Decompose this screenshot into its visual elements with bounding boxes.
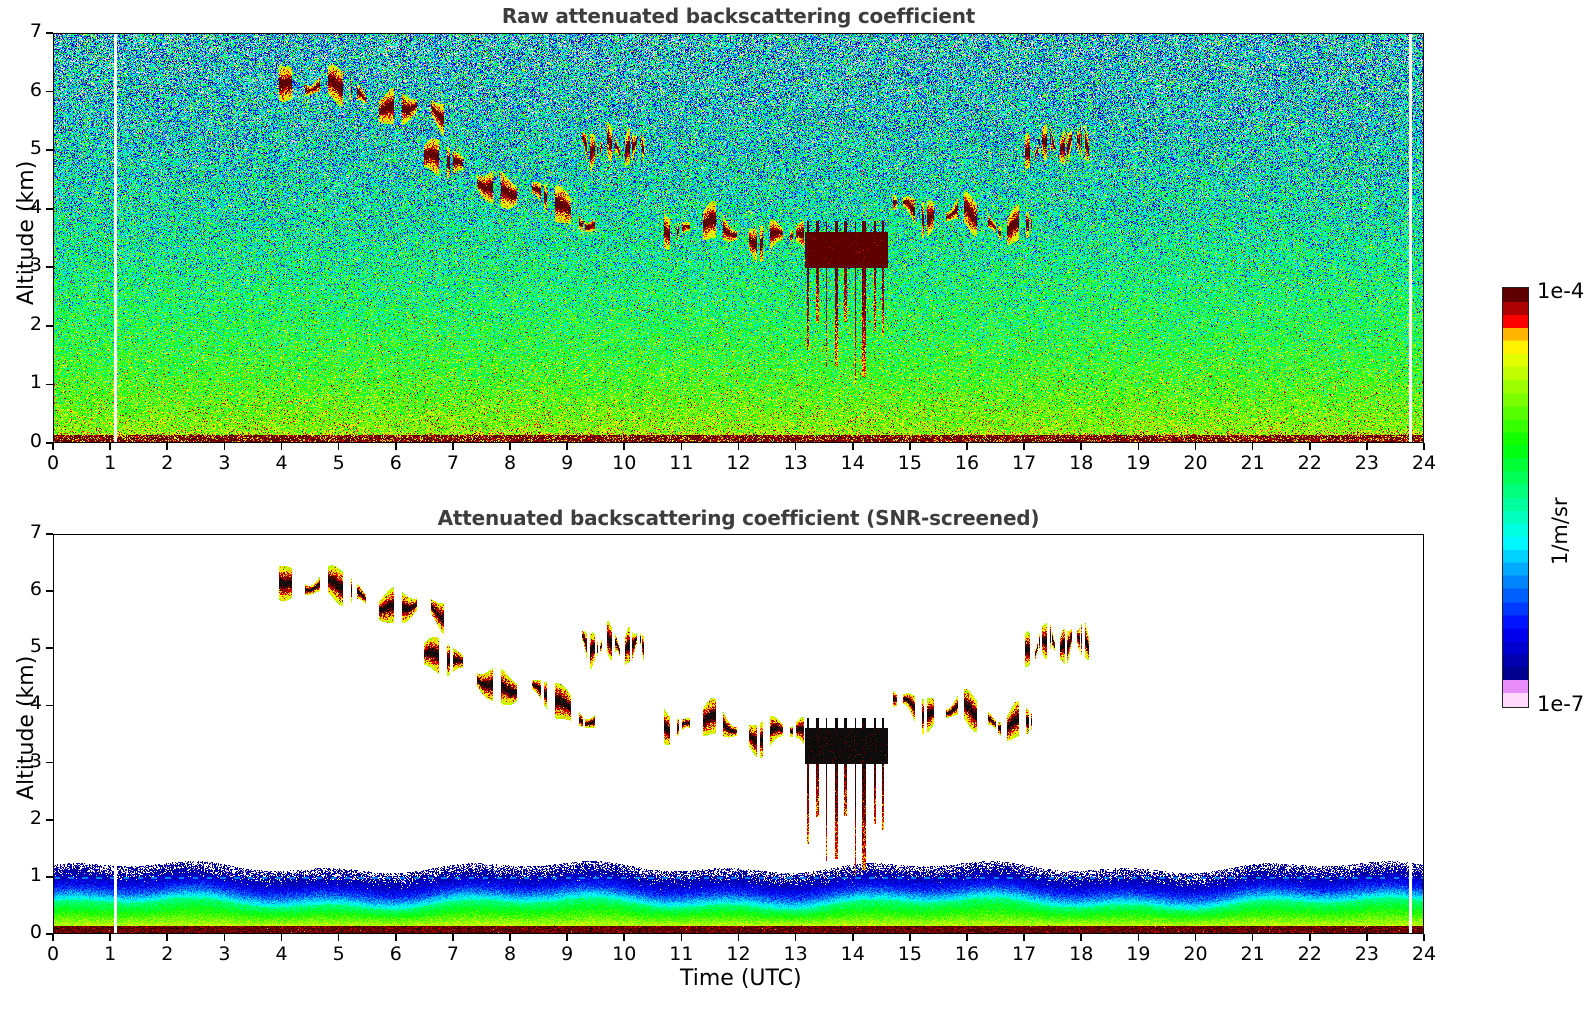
x-tick <box>109 934 111 941</box>
y-tick-label: 5 <box>9 137 42 159</box>
x-tick <box>623 443 625 450</box>
x-tick-label: 15 <box>888 452 932 474</box>
x-tick <box>852 934 854 941</box>
x-tick-label: 0 <box>31 452 75 474</box>
time-axis-label: Time (UTC) <box>680 966 802 991</box>
y-tick <box>46 442 53 444</box>
screened-backscatter-plot[interactable] <box>53 534 1424 934</box>
colorbar-max-label: 1e-4 <box>1537 279 1584 303</box>
x-tick-label: 0 <box>31 943 75 965</box>
x-tick-label: 22 <box>1288 452 1332 474</box>
x-tick <box>566 934 568 941</box>
y-tick-label: 2 <box>9 313 42 335</box>
x-tick-label: 14 <box>831 943 875 965</box>
x-tick <box>1023 934 1025 941</box>
x-tick <box>966 934 968 941</box>
x-tick <box>281 443 283 450</box>
x-tick <box>166 443 168 450</box>
x-tick-label: 24 <box>1402 943 1446 965</box>
y-tick-label: 0 <box>9 921 42 943</box>
y-tick <box>46 384 53 386</box>
y-tick-label: 2 <box>9 807 42 829</box>
y-tick-label: 7 <box>9 20 42 42</box>
x-tick-label: 20 <box>1174 452 1218 474</box>
x-tick-label: 8 <box>488 943 532 965</box>
x-tick <box>1309 934 1311 941</box>
y-tick <box>46 933 53 935</box>
x-tick <box>681 443 683 450</box>
x-tick-label: 11 <box>659 943 703 965</box>
x-tick <box>1195 443 1197 450</box>
x-tick <box>338 443 340 450</box>
y-tick <box>46 876 53 878</box>
x-tick-label: 13 <box>774 943 818 965</box>
y-tick <box>46 647 53 649</box>
x-tick <box>109 443 111 450</box>
x-tick <box>681 934 683 941</box>
x-tick-label: 4 <box>260 452 304 474</box>
x-tick-label: 3 <box>202 943 246 965</box>
x-tick <box>1080 443 1082 450</box>
x-tick <box>909 934 911 941</box>
x-tick-label: 14 <box>831 452 875 474</box>
lidar-figure: Raw attenuated backscattering coefficien… <box>0 0 1595 1020</box>
screened-heatmap-canvas <box>54 535 1424 934</box>
y-tick-label: 1 <box>9 864 42 886</box>
x-tick <box>1252 443 1254 450</box>
y-tick-label: 1 <box>9 371 42 393</box>
x-tick <box>1195 934 1197 941</box>
x-tick-label: 1 <box>88 943 132 965</box>
y-tick <box>46 819 53 821</box>
x-tick-label: 12 <box>717 943 761 965</box>
x-tick-label: 6 <box>374 452 418 474</box>
x-tick <box>966 443 968 450</box>
y-tick <box>46 533 53 535</box>
y-tick <box>46 705 53 707</box>
x-tick <box>795 443 797 450</box>
colorbar-unit-label: 1/m/sr <box>1548 497 1572 565</box>
x-tick-label: 20 <box>1174 943 1218 965</box>
x-tick <box>395 934 397 941</box>
x-tick <box>166 934 168 941</box>
x-tick <box>1023 443 1025 450</box>
colorbar-min-label: 1e-7 <box>1537 692 1584 716</box>
x-tick-label: 7 <box>431 943 475 965</box>
y-tick <box>46 208 53 210</box>
x-tick-label: 5 <box>317 943 361 965</box>
x-tick-label: 8 <box>488 452 532 474</box>
x-tick-label: 13 <box>774 452 818 474</box>
screened-panel-title: Attenuated backscattering coefficient (S… <box>53 506 1424 530</box>
x-tick-label: 15 <box>888 943 932 965</box>
x-tick-label: 18 <box>1059 943 1103 965</box>
x-tick-label: 2 <box>145 452 189 474</box>
x-tick-label: 23 <box>1345 452 1389 474</box>
x-tick-label: 12 <box>717 452 761 474</box>
x-tick <box>338 934 340 941</box>
x-tick <box>509 443 511 450</box>
x-tick-label: 10 <box>602 452 646 474</box>
x-tick <box>909 443 911 450</box>
x-tick-label: 5 <box>317 452 361 474</box>
x-tick <box>1366 934 1368 941</box>
x-tick <box>395 443 397 450</box>
screened-y-axis-label: Altitude (km) <box>14 656 39 800</box>
y-tick-label: 0 <box>9 430 42 452</box>
y-tick-label: 7 <box>9 521 42 543</box>
y-tick-label: 6 <box>9 79 42 101</box>
x-tick <box>452 443 454 450</box>
x-tick-label: 9 <box>545 452 589 474</box>
x-tick-label: 22 <box>1288 943 1332 965</box>
x-tick <box>224 934 226 941</box>
y-tick-label: 6 <box>9 578 42 600</box>
x-tick <box>1423 443 1425 450</box>
x-tick-label: 19 <box>1116 452 1160 474</box>
y-tick <box>46 325 53 327</box>
x-tick-label: 21 <box>1231 452 1275 474</box>
x-tick <box>452 934 454 941</box>
y-tick-label: 5 <box>9 635 42 657</box>
x-tick <box>1252 934 1254 941</box>
raw-heatmap-canvas <box>54 34 1424 443</box>
x-tick <box>1423 934 1425 941</box>
x-tick <box>738 443 740 450</box>
x-tick <box>1138 443 1140 450</box>
y-tick <box>46 762 53 764</box>
x-tick-label: 2 <box>145 943 189 965</box>
x-tick-label: 1 <box>88 452 132 474</box>
x-tick <box>509 934 511 941</box>
raw-backscatter-plot[interactable] <box>53 33 1424 443</box>
raw-panel-title: Raw attenuated backscattering coefficien… <box>53 4 1424 28</box>
x-tick-label: 6 <box>374 943 418 965</box>
x-tick <box>224 443 226 450</box>
colorbar-canvas <box>1503 288 1528 707</box>
x-tick-label: 9 <box>545 943 589 965</box>
y-tick <box>46 149 53 151</box>
x-tick-label: 18 <box>1059 452 1103 474</box>
x-tick-label: 4 <box>260 943 304 965</box>
x-tick <box>623 934 625 941</box>
x-tick-label: 10 <box>602 943 646 965</box>
x-tick-label: 16 <box>945 943 989 965</box>
x-tick-label: 23 <box>1345 943 1389 965</box>
colorbar[interactable] <box>1502 287 1529 708</box>
y-tick <box>46 91 53 93</box>
y-tick <box>46 32 53 34</box>
x-tick <box>566 443 568 450</box>
x-tick-label: 16 <box>945 452 989 474</box>
x-tick-label: 11 <box>659 452 703 474</box>
x-tick-label: 24 <box>1402 452 1446 474</box>
x-tick-label: 21 <box>1231 943 1275 965</box>
x-tick <box>281 934 283 941</box>
x-tick <box>1138 934 1140 941</box>
x-tick-label: 19 <box>1116 943 1160 965</box>
x-tick-label: 17 <box>1002 943 1046 965</box>
raw-y-axis-label: Altitude (km) <box>14 161 39 305</box>
x-tick <box>795 934 797 941</box>
x-tick <box>1366 443 1368 450</box>
x-tick <box>1080 934 1082 941</box>
x-tick <box>852 443 854 450</box>
x-tick <box>52 443 54 450</box>
y-tick <box>46 266 53 268</box>
x-tick-label: 7 <box>431 452 475 474</box>
y-tick <box>46 590 53 592</box>
x-tick <box>738 934 740 941</box>
x-tick-label: 3 <box>202 452 246 474</box>
x-tick <box>52 934 54 941</box>
x-tick-label: 17 <box>1002 452 1046 474</box>
x-tick <box>1309 443 1311 450</box>
